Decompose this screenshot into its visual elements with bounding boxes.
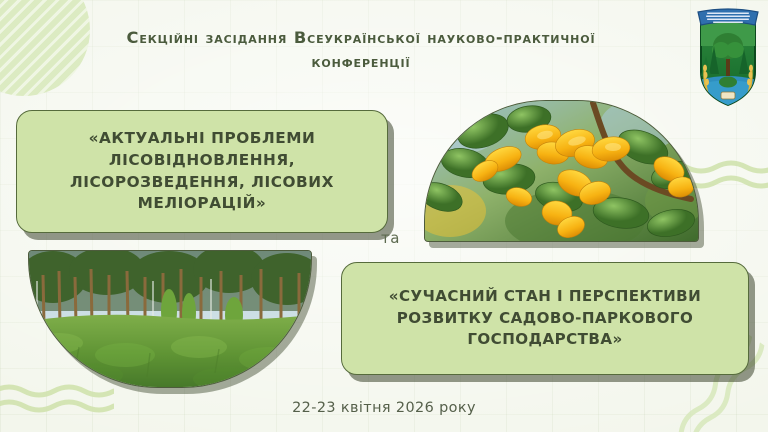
photo-pine-forest	[28, 250, 312, 388]
slide-title: Секційні засідання Всеукраїнської науков…	[22, 26, 700, 75]
topic-panel-landscape-gardening[interactable]: «СУЧАСНИЙ СТАН І ПЕРСПЕКТИВИ РОЗВИТКУ СА…	[341, 262, 749, 375]
presentation-slide: Секційні засідання Всеукраїнської науков…	[0, 0, 768, 432]
conjunction-label: та	[381, 229, 400, 247]
slide-title-line-1: Секційні засідання Всеукраїнської науков…	[22, 26, 700, 50]
photo-yellow-flowers	[424, 100, 699, 242]
topic-panel-forest-restoration[interactable]: «АКТУАЛЬНІ ПРОБЛЕМИ ЛІСОВІДНОВЛЕННЯ, ЛІС…	[16, 110, 388, 233]
topic-panel-landscape-gardening-text: «СУЧАСНИЙ СТАН І ПЕРСПЕКТИВИ РОЗВИТКУ СА…	[389, 286, 701, 350]
department-emblem	[697, 6, 759, 108]
topic-panel-forest-restoration-text: «АКТУАЛЬНІ ПРОБЛЕМИ ЛІСОВІДНОВЛЕННЯ, ЛІС…	[70, 128, 334, 215]
slide-title-line-2: конференції	[22, 50, 700, 74]
event-date: 22-23 квітня 2026 року	[0, 400, 768, 416]
